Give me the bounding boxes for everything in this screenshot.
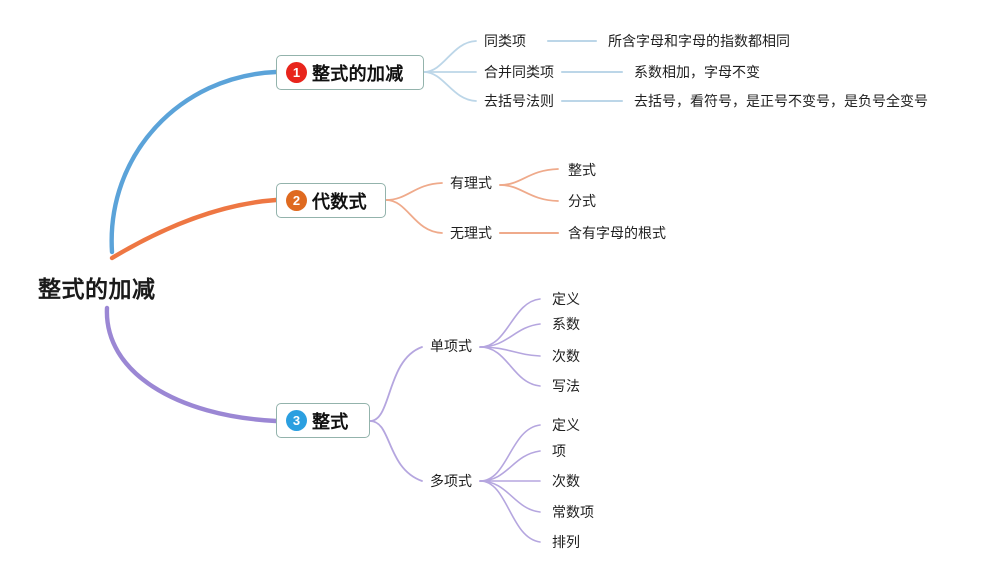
branch-3-child-2-detail-5[interactable]: 排列 — [552, 532, 580, 552]
branch-3-child-2-detail-4[interactable]: 常数项 — [552, 502, 594, 522]
branch-2-child-1-detail-2[interactable]: 分式 — [568, 191, 596, 211]
branch-2-child-2[interactable]: 无理式 — [450, 223, 492, 243]
branch-3-child-1-detail-4[interactable]: 写法 — [552, 376, 580, 396]
branch-2-child-1[interactable]: 有理式 — [450, 173, 492, 193]
branch-1-child-3[interactable]: 去括号法则 — [484, 91, 554, 111]
branch-node-3[interactable]: 3 整式 — [276, 403, 370, 438]
branch-badge-3: 3 — [286, 410, 307, 431]
branch-1-child-3-detail[interactable]: 去括号，看符号，是正号不变号，是负号全变号 — [634, 91, 928, 111]
links-branch-3-level3-polynomial — [480, 425, 540, 542]
branch-node-2[interactable]: 2 代数式 — [276, 183, 386, 218]
links-branch-1-level2 — [424, 41, 476, 101]
links-branch-2-level3 — [500, 169, 558, 201]
main-curve-branch-3 — [107, 308, 276, 421]
branch-1-child-2-detail[interactable]: 系数相加，字母不变 — [634, 62, 760, 82]
branch-3-child-2-detail-3[interactable]: 次数 — [552, 471, 580, 491]
branch-badge-2: 2 — [286, 190, 307, 211]
branch-1-child-2[interactable]: 合并同类项 — [484, 62, 554, 82]
branch-3-child-2-detail-1[interactable]: 定义 — [552, 415, 580, 435]
branch-3-child-2-detail-2[interactable]: 项 — [552, 441, 566, 461]
branch-node-2-label: 代数式 — [312, 188, 367, 214]
links-branch-3-level2 — [370, 347, 422, 481]
branch-2-child-1-detail-1[interactable]: 整式 — [568, 160, 596, 180]
branch-1-child-1[interactable]: 同类项 — [484, 31, 526, 51]
branch-3-child-1-detail-3[interactable]: 次数 — [552, 346, 580, 366]
branch-3-child-1-detail-1[interactable]: 定义 — [552, 289, 580, 309]
branch-node-1[interactable]: 1 整式的加减 — [276, 55, 424, 90]
branch-3-child-2[interactable]: 多项式 — [430, 471, 472, 491]
branch-node-1-label: 整式的加减 — [312, 60, 404, 86]
branch-3-child-1-detail-2[interactable]: 系数 — [552, 314, 580, 334]
main-curve-branch-1 — [112, 72, 276, 252]
branch-3-child-1[interactable]: 单项式 — [430, 336, 472, 356]
branch-1-child-1-detail[interactable]: 所含字母和字母的指数都相同 — [608, 31, 790, 51]
branch-2-child-2-detail-1[interactable]: 含有字母的根式 — [568, 223, 666, 243]
links-branch-2-level2 — [386, 183, 442, 233]
mindmap-canvas: 整式的加减 1 整式的加减 同类项 合并同类项 去括号法则 所含字母和字母的指数… — [0, 0, 991, 580]
branch-node-3-label: 整式 — [312, 408, 349, 434]
links-branch-3-level3-monomial — [480, 299, 540, 386]
root-node-label: 整式的加减 — [38, 270, 156, 304]
main-curve-branch-2 — [112, 200, 276, 258]
branch-badge-1: 1 — [286, 62, 307, 83]
